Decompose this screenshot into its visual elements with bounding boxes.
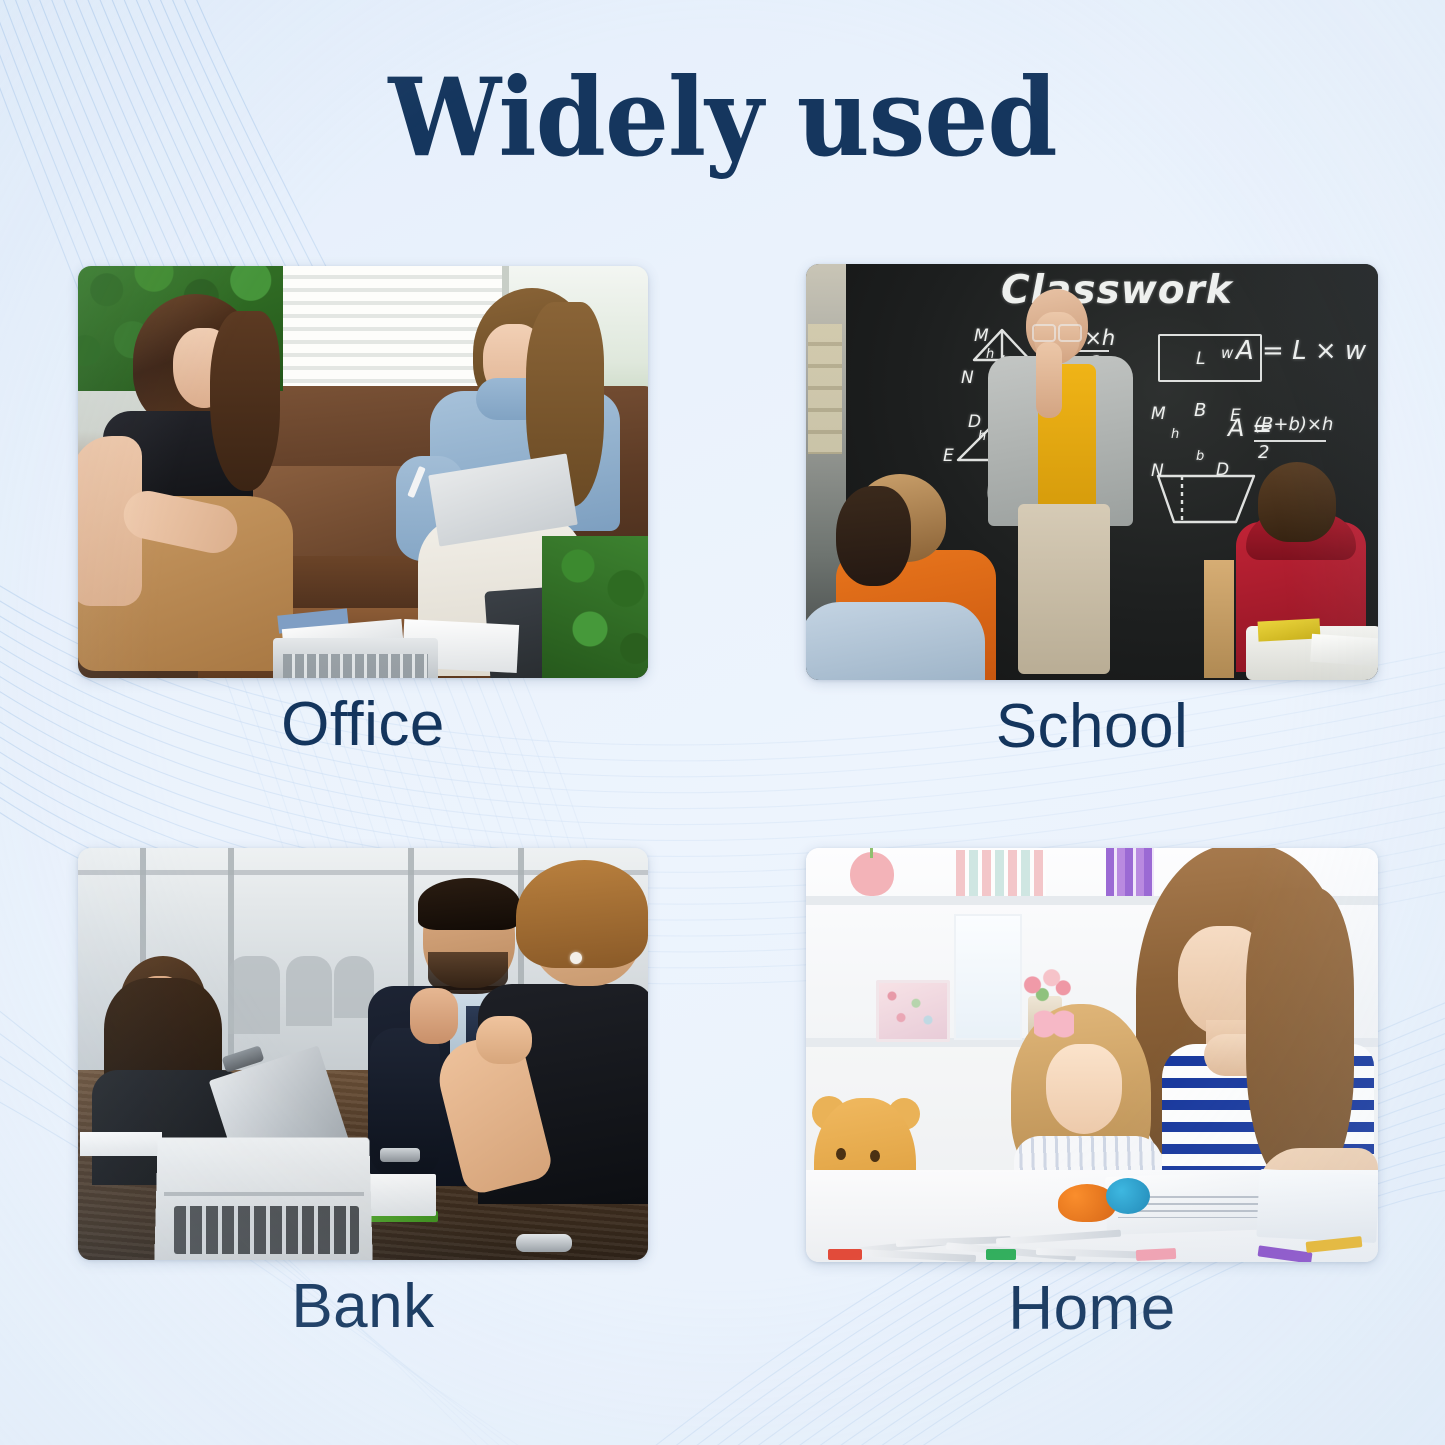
bank-wrist-watch xyxy=(516,1234,572,1252)
bank-man-hand xyxy=(410,988,458,1044)
home-apple-stem xyxy=(870,848,873,858)
home-books-purple xyxy=(1106,848,1154,896)
chalk-label-tri-h2: h xyxy=(978,429,986,444)
home-flowers xyxy=(1018,966,1076,1008)
chalk-label-trap-e: E xyxy=(1230,406,1241,426)
chalk-label-trap-b-low: b xyxy=(1196,449,1204,464)
home-crayon-red xyxy=(828,1249,862,1260)
use-case-card-home[interactable]: Home xyxy=(806,848,1378,1340)
home-photo xyxy=(806,848,1378,1262)
school-teacher-hand xyxy=(1036,342,1062,418)
chalk-label-rect-w: w xyxy=(1221,344,1233,362)
bank-laptop-hinge xyxy=(164,1192,364,1196)
use-case-card-office[interactable]: Office xyxy=(78,266,648,756)
home-girl-hair-bow xyxy=(1034,1008,1074,1040)
chalk-label-trap-b: B xyxy=(1194,400,1206,421)
chalk-label-trap-m: M xyxy=(1151,404,1166,424)
school-glasses-left xyxy=(1032,324,1056,342)
home-eraser-pink xyxy=(1136,1248,1177,1261)
use-case-grid: Office Class xyxy=(0,0,1445,1445)
office-plant-right xyxy=(542,536,648,678)
use-case-card-school[interactable]: Classwork b×h 2 A = L × w A = 2 (B+b)×h … xyxy=(806,264,1378,758)
home-apple-decor xyxy=(850,852,894,896)
bank-man-watch xyxy=(380,1148,420,1162)
chalk-label-rect-l: L xyxy=(1196,349,1205,369)
school-student-red-head xyxy=(1258,462,1336,542)
home-teddy-eye-right xyxy=(870,1150,880,1162)
home-books-pink xyxy=(956,850,1046,896)
school-chair-right xyxy=(1204,560,1234,678)
chalk-fraction-bar-2 xyxy=(1254,440,1326,442)
chalk-trapezoid-denominator: 2 xyxy=(1258,442,1269,463)
office-laptop-keyboard xyxy=(283,654,428,678)
chalk-label-tri-m: M xyxy=(974,326,989,346)
card-label-office: Office xyxy=(78,694,648,756)
chalk-label-trap-p: D xyxy=(1216,460,1229,480)
chalk-label-tri-n: N xyxy=(961,368,974,388)
school-glasses-right xyxy=(1058,324,1082,342)
bank-laptop-keyboard xyxy=(174,1206,359,1254)
bank-loose-paper xyxy=(80,1132,162,1156)
office-photo xyxy=(78,266,648,678)
chalk-label-trap-n: N xyxy=(1151,461,1164,481)
home-crayon-green xyxy=(986,1249,1016,1260)
home-clay-blue xyxy=(1106,1178,1150,1214)
bank-woman2-hair xyxy=(516,860,648,968)
office-woman1-hair xyxy=(210,311,280,491)
school-photo: Classwork b×h 2 A = L × w A = 2 (B+b)×h … xyxy=(806,264,1378,680)
chalk-label-tri-e: E xyxy=(943,446,954,466)
school-student-blue-body xyxy=(806,602,985,680)
bank-woman2-hand xyxy=(476,1016,532,1064)
card-label-home: Home xyxy=(806,1278,1378,1340)
chalk-label-trap-h: h xyxy=(1171,427,1179,442)
chalk-label-tri-h: h xyxy=(986,347,994,362)
school-teacher-trousers xyxy=(1018,504,1110,674)
card-label-bank: Bank xyxy=(78,1276,648,1338)
bank-silhouette-2 xyxy=(286,956,332,1026)
bank-silhouette-1 xyxy=(228,956,280,1034)
home-picture-pattern xyxy=(880,984,940,1032)
home-girl-face xyxy=(1046,1044,1122,1134)
chalk-rectangle-formula: A = L × w xyxy=(1236,336,1366,366)
chalk-trapezoid-numerator: (B+b)×h xyxy=(1254,414,1333,435)
school-student-orange-hair xyxy=(836,486,911,586)
card-label-school: School xyxy=(806,696,1378,758)
school-open-book xyxy=(1310,634,1378,667)
home-teddy-eye-left xyxy=(836,1148,846,1160)
bank-woman2-earring xyxy=(570,952,582,964)
home-mother-hair-front xyxy=(1246,888,1354,1188)
poster-canvas: Widely used xyxy=(0,0,1445,1445)
bank-man-hair xyxy=(418,878,520,930)
home-window xyxy=(954,914,1022,1040)
bank-photo xyxy=(78,848,648,1260)
home-notebook-right xyxy=(1256,1169,1378,1243)
use-case-card-bank[interactable]: Bank xyxy=(78,848,648,1338)
